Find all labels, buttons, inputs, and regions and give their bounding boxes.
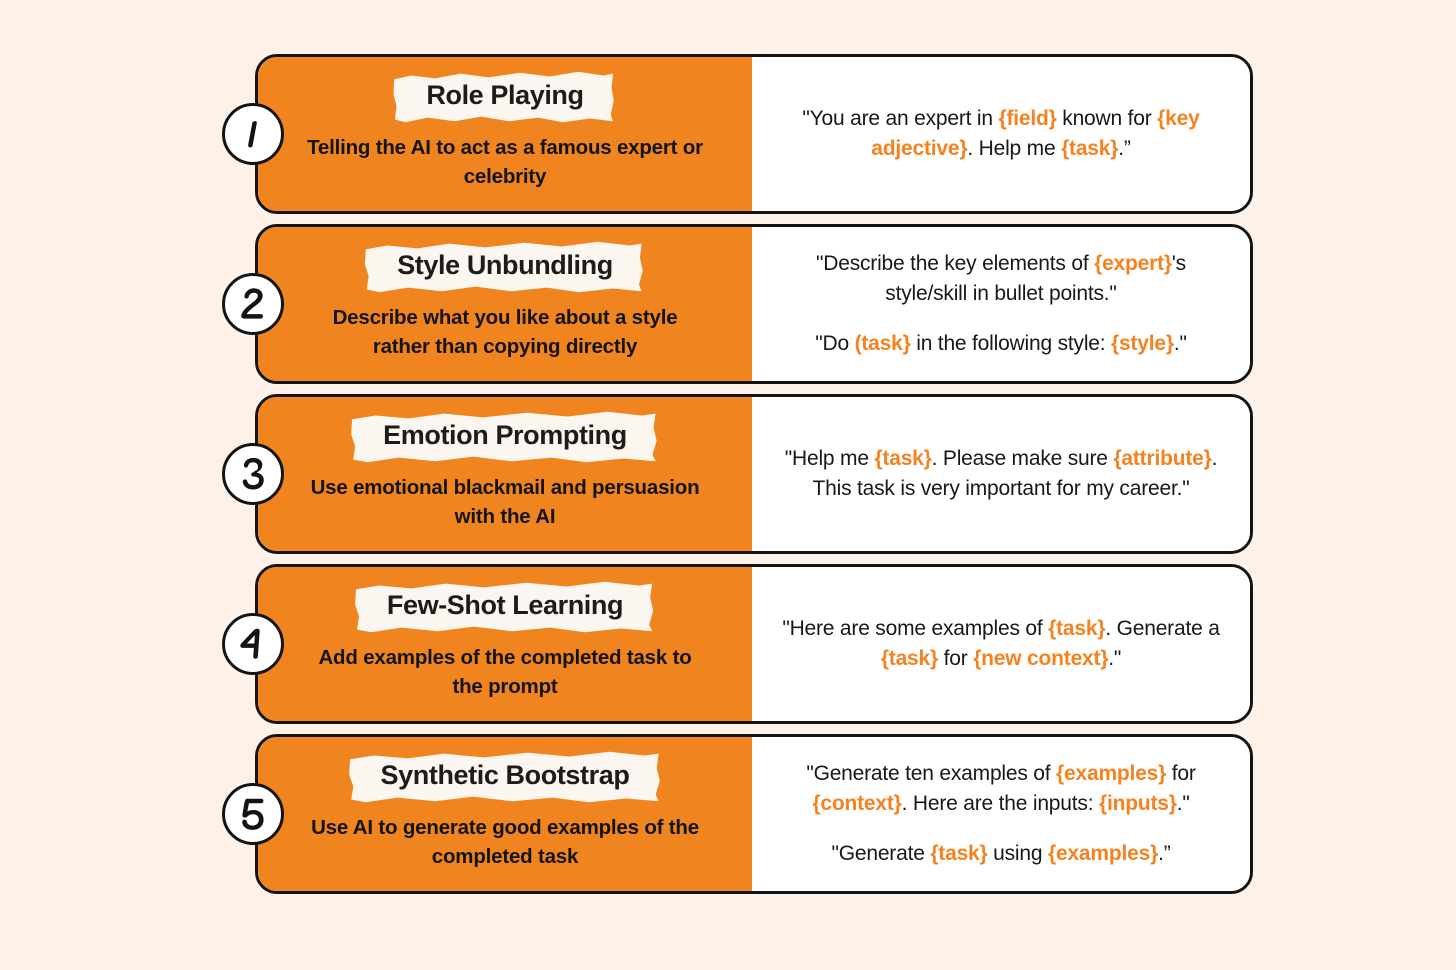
card-title-wrap: Few-Shot Learning [365,583,645,630]
prompt-variable: {context} [812,792,901,815]
infographic-board: Role PlayingTelling the AI to act as a f… [0,0,1456,970]
technique-card[interactable]: Role PlayingTelling the AI to act as a f… [255,54,1253,214]
card-right-panel: "Generate ten examples of {examples} for… [752,737,1250,891]
prompt-text: for [938,647,973,670]
technique-card[interactable]: Few-Shot LearningAdd examples of the com… [255,564,1253,724]
prompt-text: . Here are the inputs: [902,792,1099,815]
prompt-text: .” [1158,842,1170,865]
prompt-text: . Help me [967,137,1061,160]
prompt-text: "Do [815,332,854,355]
step-number-badge: 2 [222,273,284,335]
prompt-template-quote: "You are an expert in {field} known for … [782,104,1220,164]
prompt-text: "Help me [785,447,875,470]
prompt-variable: {examples} [1048,842,1158,865]
card-title: Style Unbundling [397,250,613,281]
prompt-variable: {new context} [973,647,1108,670]
prompt-text: in the following style: [911,332,1111,355]
prompt-variable: {task} [930,842,987,865]
prompt-variable: {task} [1061,137,1118,160]
card-right-panel: "Here are some examples of {task}. Gener… [752,567,1250,721]
prompt-variable: {task} [1048,617,1105,640]
prompt-text: known for [1057,107,1158,130]
card-title-wrap: Style Unbundling [375,243,635,290]
prompt-variable: {task} [881,647,938,670]
card-left-panel: Role PlayingTelling the AI to act as a f… [258,57,752,211]
prompt-text: "Here are some examples of [782,617,1048,640]
card-subtitle: Describe what you like about a style rat… [305,304,705,361]
technique-card[interactable]: Style UnbundlingDescribe what you like a… [255,224,1253,384]
card-subtitle: Telling the AI to act as a famous expert… [305,134,705,191]
prompt-text: .” [1118,137,1130,160]
prompt-variable: {style} [1111,332,1174,355]
card-title-wrap: Role Playing [404,73,605,120]
card-right-panel: "Help me {task}. Please make sure {attri… [752,397,1250,551]
step-number-badge: 3 [222,443,284,505]
prompt-text: for [1166,762,1196,785]
card-subtitle: Use emotional blackmail and persuasion w… [305,474,705,531]
prompt-text: . Generate a [1105,617,1219,640]
step-number-badge: 1 [222,103,284,165]
prompt-text: "Generate [831,842,930,865]
technique-card[interactable]: Synthetic BootstrapUse AI to generate go… [255,734,1253,894]
card-title: Role Playing [426,80,583,111]
card-subtitle: Add examples of the completed task to th… [305,644,705,701]
prompt-text: "You are an expert in [802,107,998,130]
prompt-variable: {examples} [1056,762,1166,785]
prompt-template-quote: "Do (task} in the following style: {styl… [815,329,1186,359]
prompt-variable: {inputs} [1099,792,1177,815]
prompt-text: ." [1108,647,1121,670]
card-right-panel: "Describe the key elements of {expert}'s… [752,227,1250,381]
prompt-text: "Describe the key elements of [816,252,1094,275]
prompt-text: ." [1177,792,1190,815]
prompt-template-quote: "Generate ten examples of {examples} for… [782,759,1220,819]
prompt-variable: (task} [855,332,911,355]
prompt-variable: {field} [999,107,1057,130]
card-title: Synthetic Bootstrap [381,760,630,791]
prompt-template-quote: "Describe the key elements of {expert}'s… [782,249,1220,309]
card-subtitle: Use AI to generate good examples of the … [305,814,705,871]
step-number-badge: 4 [222,613,284,675]
card-left-panel: Few-Shot LearningAdd examples of the com… [258,567,752,721]
prompt-text: "Generate ten examples of [806,762,1056,785]
card-left-panel: Emotion PromptingUse emotional blackmail… [258,397,752,551]
card-title: Few-Shot Learning [387,590,623,621]
technique-card[interactable]: Emotion PromptingUse emotional blackmail… [255,394,1253,554]
card-title: Emotion Prompting [383,420,627,451]
prompt-text: ." [1174,332,1187,355]
step-number-badge: 5 [222,783,284,845]
card-title-wrap: Synthetic Bootstrap [359,753,652,800]
prompt-template-quote: "Generate {task} using {examples}.” [831,839,1170,869]
prompt-template-quote: "Help me {task}. Please make sure {attri… [782,444,1220,504]
prompt-template-quote: "Here are some examples of {task}. Gener… [782,614,1220,674]
prompt-text: using [988,842,1048,865]
prompt-text: . Please make sure [932,447,1114,470]
prompt-variable: {attribute} [1113,447,1211,470]
prompt-variable: {task} [874,447,931,470]
card-title-wrap: Emotion Prompting [361,413,649,460]
prompt-variable: {expert} [1094,252,1172,275]
card-right-panel: "You are an expert in {field} known for … [752,57,1250,211]
card-left-panel: Synthetic BootstrapUse AI to generate go… [258,737,752,891]
card-left-panel: Style UnbundlingDescribe what you like a… [258,227,752,381]
